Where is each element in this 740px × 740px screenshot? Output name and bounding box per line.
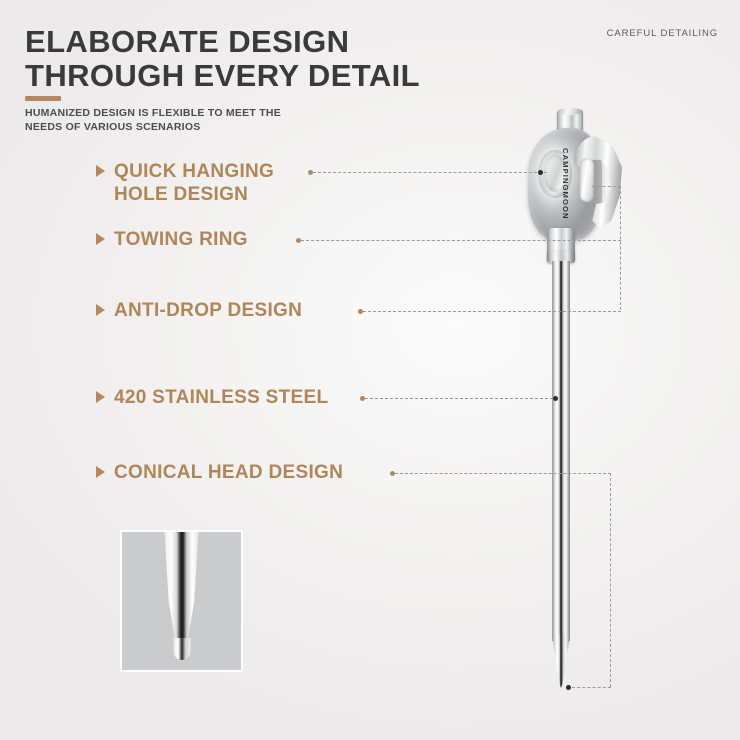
- tent-stake-product-image: CAMPINGMOON: [495, 110, 625, 695]
- page-title: ELABORATE DESIGN THROUGH EVERY DETAIL: [25, 25, 545, 93]
- accent-bar: [25, 96, 61, 101]
- triangle-bullet-icon: [96, 233, 105, 245]
- feature-label: 420 STAINLESS STEEL: [114, 386, 328, 409]
- feature-label: ANTI-DROP DESIGN: [114, 299, 302, 322]
- leader-line-5-vertical: [610, 473, 611, 687]
- corner-note: CAREFUL DETAILING: [607, 26, 718, 41]
- brand-engraving: CAMPINGMOON: [561, 148, 570, 220]
- leader-dot-end-4: [553, 396, 558, 401]
- stake-cap-top: [557, 108, 583, 115]
- leader-line-2-top: [592, 186, 621, 187]
- feature-item-towing-ring[interactable]: TOWING RING: [96, 228, 248, 251]
- feature-item-conical-head-design[interactable]: CONICAL HEAD DESIGN: [96, 461, 343, 484]
- feature-label: TOWING RING: [114, 228, 248, 251]
- leader-line-1: [313, 172, 547, 173]
- triangle-bullet-icon: [96, 391, 105, 403]
- leader-line-3: [363, 311, 621, 312]
- triangle-bullet-icon: [96, 466, 105, 478]
- leader-line-5: [395, 473, 611, 474]
- leader-dot-end-5: [566, 685, 571, 690]
- feature-item-420-stainless-steel[interactable]: 420 STAINLESS STEEL: [96, 386, 328, 409]
- triangle-bullet-icon: [96, 304, 105, 316]
- stake-shaft: [552, 261, 570, 641]
- triangle-bullet-icon: [96, 165, 105, 177]
- infographic-canvas: ELABORATE DESIGN THROUGH EVERY DETAIL HU…: [0, 0, 740, 740]
- hook-notch: [580, 158, 594, 202]
- feature-label: QUICK HANGING HOLE DESIGN: [114, 160, 274, 206]
- stake-head: CAMPINGMOON: [522, 124, 618, 244]
- stake-conical-tip: [552, 635, 570, 688]
- leader-line-4: [365, 398, 553, 399]
- leader-dot-end-1: [538, 170, 543, 175]
- leader-line-2: [301, 240, 621, 241]
- conical-tip-closeup-inset: [120, 530, 243, 672]
- inset-tip-point: [173, 638, 190, 660]
- leader-line-2-vertical: [620, 186, 621, 310]
- leader-line-5-bottom: [572, 687, 611, 688]
- feature-label: CONICAL HEAD DESIGN: [114, 461, 343, 484]
- feature-item-anti-drop-design[interactable]: ANTI-DROP DESIGN: [96, 299, 302, 322]
- page-subtitle: HUMANIZED DESIGN IS FLEXIBLE TO MEET THE…: [25, 106, 355, 134]
- feature-item-quick-hanging-hole[interactable]: QUICK HANGING HOLE DESIGN: [96, 160, 274, 206]
